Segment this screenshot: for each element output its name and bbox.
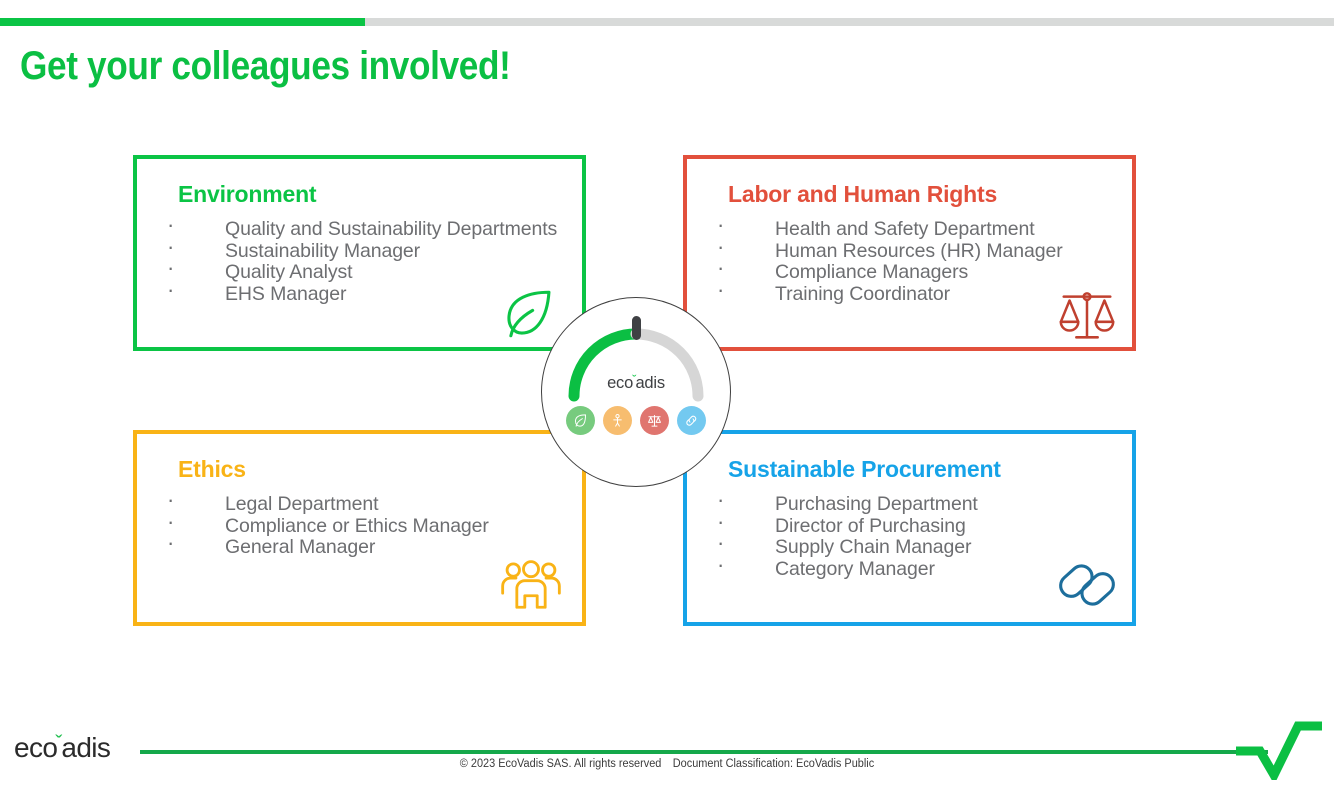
card-labor-and-human-rights: Labor and Human Rights Health and Safety… [683,155,1136,351]
list-item: Supply Chain Manager [709,537,1122,559]
bullet-list-environment: Quality and Sustainability Departments S… [159,219,572,305]
list-item: Compliance Managers [709,262,1122,284]
logo-tick-icon: ˇ [55,732,59,755]
card-sustainable-procurement: Sustainable Procurement Purchasing Depar… [683,430,1136,626]
people-icon [500,558,562,614]
list-item: Quality Analyst [159,262,572,284]
medal-badge-row [542,406,730,435]
bullet-list-labor-and-human-rights: Health and Safety Department Human Resou… [709,219,1122,305]
ecovadis-wordmark: ecoˇadis [542,374,730,393]
ethics-badge [640,406,669,435]
list-item: Sustainability Manager [159,241,572,263]
list-item: Quality and Sustainability Departments [159,219,572,241]
footer-copyright: © 2023 EcoVadis SAS. All rights reserved… [33,758,1300,770]
list-item: Purchasing Department [709,494,1122,516]
list-item: Legal Department [159,494,572,516]
bullet-list-sustainable-procurement: Purchasing Department Director of Purcha… [709,494,1122,580]
list-item: Health and Safety Department [709,219,1122,241]
card-title-sustainable-procurement: Sustainable Procurement [728,456,1001,483]
page-title: Get your colleagues involved! [20,44,511,89]
card-title-ethics: Ethics [178,456,246,483]
card-title-environment: Environment [178,181,316,208]
green-checkmark-icon [1236,718,1322,780]
list-item: Compliance or Ethics Manager [159,516,572,538]
list-item: Director of Purchasing [709,516,1122,538]
list-item: Category Manager [709,559,1122,581]
card-ethics: Ethics Legal Department Compliance or Et… [133,430,586,626]
environment-badge [566,406,595,435]
list-item: General Manager [159,537,572,559]
bullet-list-ethics: Legal Department Compliance or Ethics Ma… [159,494,572,559]
list-item: Training Coordinator [709,284,1122,306]
header-rule-green [0,18,365,26]
wordmark-part2: adis [635,374,664,392]
ecovadis-medal: ecoˇadis [541,297,731,487]
list-item: Human Resources (HR) Manager [709,241,1122,263]
card-title-labor-and-human-rights: Labor and Human Rights [728,181,997,208]
wordmark-part1: eco [607,374,633,392]
gauge-needle [632,316,641,340]
footer-rule [140,750,1268,754]
copyright-text: © 2023 EcoVadis SAS. All rights reserved [460,758,662,770]
card-environment: Environment Quality and Sustainability D… [133,155,586,351]
list-item: EHS Manager [159,284,572,306]
document-classification: Document Classification: EcoVadis Public [673,758,874,770]
labor-badge [603,406,632,435]
procurement-badge [677,406,706,435]
